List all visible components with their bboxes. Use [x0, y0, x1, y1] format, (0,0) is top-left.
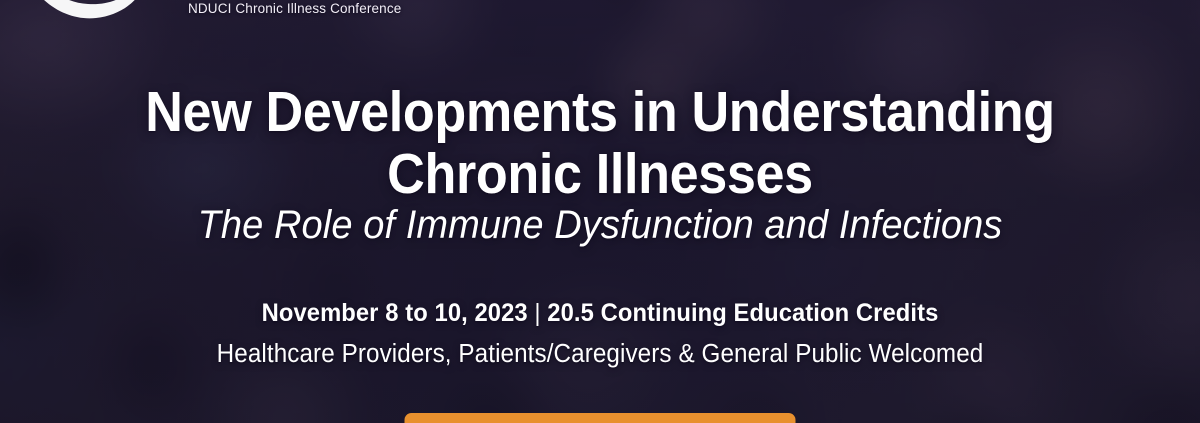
- conference-series-label: NDUCI Chronic Illness Conference: [188, 1, 401, 16]
- conference-hero-banner: NDUCI Chronic Illness Conference New Dev…: [0, 0, 1200, 423]
- page-title: New Developments in Understanding Chroni…: [51, 82, 1149, 205]
- banner-content: NDUCI Chronic Illness Conference New Dev…: [0, 0, 1200, 423]
- ce-credits: 20.5 Continuing Education Credits: [547, 299, 938, 327]
- event-meta: November 8 to 10, 2023|20.5 Continuing E…: [30, 299, 1170, 328]
- event-dates: November 8 to 10, 2023: [262, 299, 528, 327]
- register-cta-button[interactable]: [405, 413, 796, 423]
- subtitle: The Role of Immune Dysfunction and Infec…: [30, 202, 1170, 248]
- headline-line-2: Chronic Illnesses: [51, 144, 1149, 206]
- audience-statement: Healthcare Providers, Patients/Caregiver…: [30, 340, 1170, 369]
- meta-separator: |: [528, 299, 548, 328]
- headline-line-1: New Developments in Understanding: [51, 82, 1149, 144]
- swoosh-logo-icon: [8, 0, 160, 34]
